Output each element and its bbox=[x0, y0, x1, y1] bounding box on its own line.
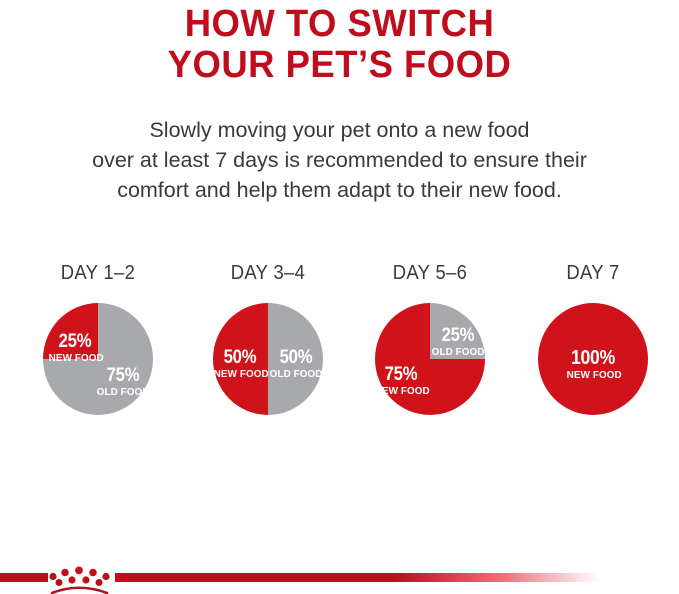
pie-2-old-food-pct: 50% bbox=[271, 348, 320, 367]
pie-3-slice-new-food: 75% NEW FOOD bbox=[373, 365, 429, 397]
page-title: HOW TO SWITCH YOUR PET’S FOOD bbox=[0, 4, 679, 86]
page-title-line-1: HOW TO SWITCH bbox=[14, 4, 666, 45]
pie-3-new-food-name: NEW FOOD bbox=[375, 386, 428, 397]
pie-graphic-4: 100% NEW FOOD bbox=[538, 303, 648, 415]
pie-1-old-food-name: OLD FOOD bbox=[97, 387, 150, 398]
footer-rule-right bbox=[115, 573, 600, 582]
pie-graphic-3: 25% OLD FOOD 75% NEW FOOD bbox=[375, 303, 485, 415]
pie-graphic-1: 25% NEW FOOD 75% OLD FOOD bbox=[43, 303, 153, 415]
pie-4-new-food-name: NEW FOOD bbox=[567, 370, 620, 381]
pie-3-old-food-pct: 25% bbox=[433, 326, 482, 345]
day-label-1: DAY 1–2 bbox=[24, 262, 171, 284]
footer-rule-left bbox=[0, 573, 48, 582]
pie-2-new-food-name: NEW FOOD bbox=[214, 369, 267, 380]
royal-canin-crown-icon bbox=[46, 565, 116, 594]
pie-4-new-food-pct: 100% bbox=[568, 348, 617, 368]
pie-1-new-food-pct: 25% bbox=[50, 332, 99, 351]
page-subtitle-line-1: Slowly moving your pet onto a new food bbox=[0, 115, 679, 145]
pie-2-slice-old-food: 50% OLD FOOD bbox=[268, 348, 324, 380]
infographic-page: { "title": { "line1": "HOW TO SWITCH", "… bbox=[0, 0, 679, 594]
pie-3-new-food-pct: 75% bbox=[376, 365, 425, 384]
pie-chart-day-7: DAY 7 100% NEW FOOD bbox=[513, 262, 673, 415]
pie-chart-row: DAY 1–2 25% NEW FOOD 75% OLD FOOD DAY 3–… bbox=[0, 262, 679, 437]
page-title-line-2: YOUR PET’S FOOD bbox=[14, 45, 666, 86]
pie-chart-day-1-2: DAY 1–2 25% NEW FOOD 75% OLD FOOD bbox=[18, 262, 178, 415]
pie-chart-day-3-4: DAY 3–4 50% NEW FOOD 50% OLD FOOD bbox=[188, 262, 348, 415]
pie-1-slice-new-food: 25% NEW FOOD bbox=[47, 332, 103, 364]
page-subtitle-line-2: over at least 7 days is recommended to e… bbox=[0, 145, 679, 175]
pie-4-slice-new-food: 100% NEW FOOD bbox=[565, 348, 621, 381]
pie-3-old-food-name: OLD FOOD bbox=[432, 347, 485, 358]
pie-chart-day-5-6: DAY 5–6 25% OLD FOOD 75% NEW FOOD bbox=[350, 262, 510, 415]
pie-1-slice-old-food: 75% OLD FOOD bbox=[95, 366, 151, 398]
pie-3-slice-old-food: 25% OLD FOOD bbox=[430, 326, 486, 358]
day-label-3: DAY 5–6 bbox=[356, 262, 503, 284]
pie-1-old-food-pct: 75% bbox=[98, 366, 147, 385]
pie-disc-3 bbox=[375, 303, 485, 415]
day-label-2: DAY 3–4 bbox=[194, 262, 341, 284]
pie-1-new-food-name: NEW FOOD bbox=[49, 353, 102, 364]
pie-2-new-food-pct: 50% bbox=[215, 348, 264, 367]
pie-2-slice-new-food: 50% NEW FOOD bbox=[212, 348, 268, 380]
day-label-4: DAY 7 bbox=[519, 262, 666, 284]
page-subtitle: Slowly moving your pet onto a new food o… bbox=[0, 115, 679, 205]
page-subtitle-line-3: comfort and help them adapt to their new… bbox=[0, 175, 679, 205]
footer-brand-bar bbox=[0, 565, 679, 594]
pie-2-old-food-name: OLD FOOD bbox=[270, 369, 323, 380]
pie-graphic-2: 50% NEW FOOD 50% OLD FOOD bbox=[213, 303, 323, 415]
